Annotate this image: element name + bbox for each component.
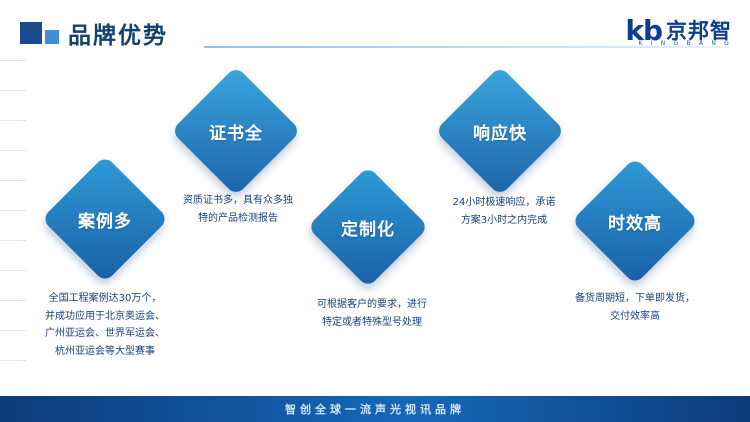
header-square-dark	[20, 22, 42, 44]
diamond-desc-case-many: 全国工程案例达30万个，并成功应用于北京奥运会、广州亚运会、世界军运会、杭州亚运…	[20, 290, 190, 360]
logo-subtitle: K I N G B A N G	[638, 40, 732, 47]
header-square-light	[45, 30, 59, 44]
slide-root: 品牌优势 kb 京邦智 K I N G B A N G 案例多全国工程案例达30…	[0, 0, 750, 422]
diamond-label-case-many: 案例多	[60, 174, 150, 264]
diamond-certificate-complete[interactable]: 证书全	[171, 66, 301, 196]
diamond-label-fast-response: 响应快	[454, 85, 546, 177]
logo-chinese-text: 京邦智	[666, 21, 732, 42]
diamond-desc-certificate-complete: 资质证书多，具有众多独特的产品检测报告	[160, 192, 316, 227]
diamond-fast-response[interactable]: 响应快	[435, 66, 565, 196]
diamond-high-efficiency[interactable]: 时效高	[571, 157, 698, 284]
diamond-label-high-efficiency: 时效高	[590, 176, 680, 266]
diamond-case-many[interactable]: 案例多	[41, 155, 168, 282]
diamond-label-certificate-complete: 证书全	[190, 85, 282, 177]
diamond-desc-customization: 可根据客户的要求，进行特定或者特殊型号处理	[294, 296, 450, 331]
diamond-desc-fast-response: 24小时极速响应，承诺方案3小时之内完成	[426, 194, 582, 229]
page-title: 品牌优势	[68, 16, 168, 50]
diamond-desc-high-efficiency: 备货周期短，下单即发货，交付效率高	[556, 290, 714, 325]
diamond-customization[interactable]: 定制化	[307, 166, 429, 288]
footer-text: 智创全球一流声光视讯品牌	[0, 396, 750, 422]
diamond-label-customization: 定制化	[325, 184, 411, 270]
